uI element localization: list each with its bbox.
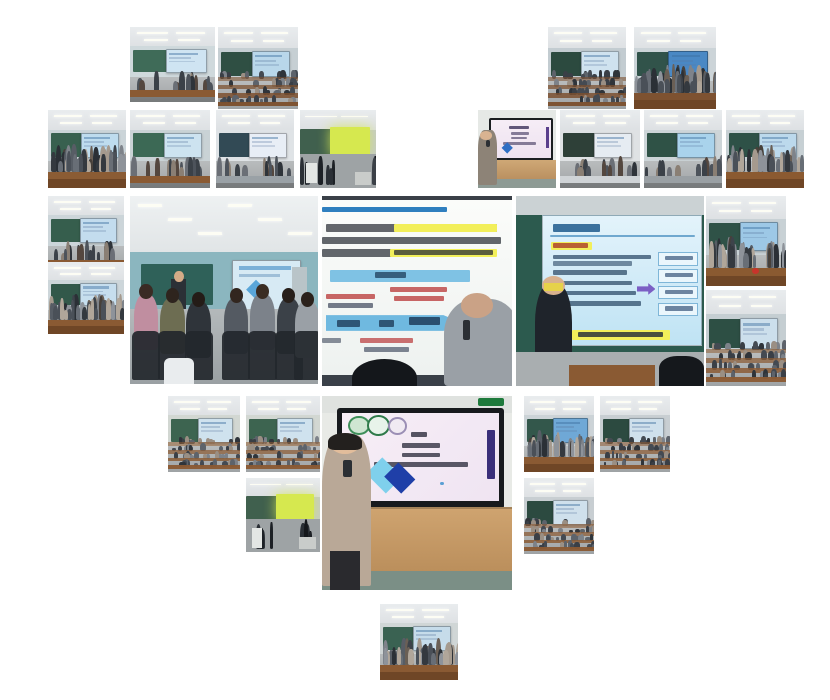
collage-photo-slide-discipline-policy[interactable] (322, 196, 512, 386)
collage-photo-slide-civility-pledge[interactable] (322, 396, 512, 590)
collage-photo-slide-excellence-evaluation[interactable] (516, 196, 704, 386)
collage-photo-group-photo-lower-right[interactable] (524, 396, 594, 472)
collage-photo-group-photo-front-row[interactable] (48, 110, 126, 188)
collage-photo-lecture-hall-right-lower[interactable] (706, 290, 786, 386)
photo-collage-canvas (0, 0, 830, 700)
collage-photo-lecture-hall-audience-rows[interactable] (218, 27, 298, 109)
collage-photo-teal-classroom-large[interactable] (130, 196, 318, 384)
collage-photo-flat-classroom-discussion[interactable] (560, 110, 640, 188)
collage-photo-group-photo-bottom-tip[interactable] (380, 604, 458, 680)
collage-photo-group-photo-auditorium[interactable] (726, 110, 804, 188)
collage-photo-auditorium-audience-left[interactable] (168, 396, 240, 472)
collage-photo-auditorium-audience-right[interactable] (246, 396, 320, 472)
collage-photo-classroom-green-board-talk[interactable] (130, 110, 210, 188)
collage-photo-group-photo-left-lower[interactable] (48, 262, 124, 334)
collage-photo-classroom-yellow-screen-lower[interactable] (246, 478, 320, 552)
collage-photo-classroom-yellow-screen[interactable] (300, 110, 376, 188)
collage-photo-lecture-audience-lower-right-2[interactable] (524, 478, 594, 554)
collage-photo-blue-slide-projection[interactable] (644, 110, 722, 188)
collage-photo-lecture-hall-screen-left[interactable] (130, 27, 215, 102)
collage-photo-small-classroom-left-top[interactable] (48, 196, 124, 272)
collage-photo-lecture-audience-lower-right[interactable] (600, 396, 670, 472)
collage-photo-lecture-hall-wide-audience[interactable] (548, 27, 626, 109)
collage-photo-seminar-room-presentation[interactable] (216, 110, 294, 188)
collage-photo-group-photo-standing-crowd[interactable] (634, 27, 716, 109)
collage-photo-speaker-with-mic-slide[interactable] (478, 110, 556, 188)
collage-photo-group-photo-right-upper[interactable] (706, 196, 786, 286)
